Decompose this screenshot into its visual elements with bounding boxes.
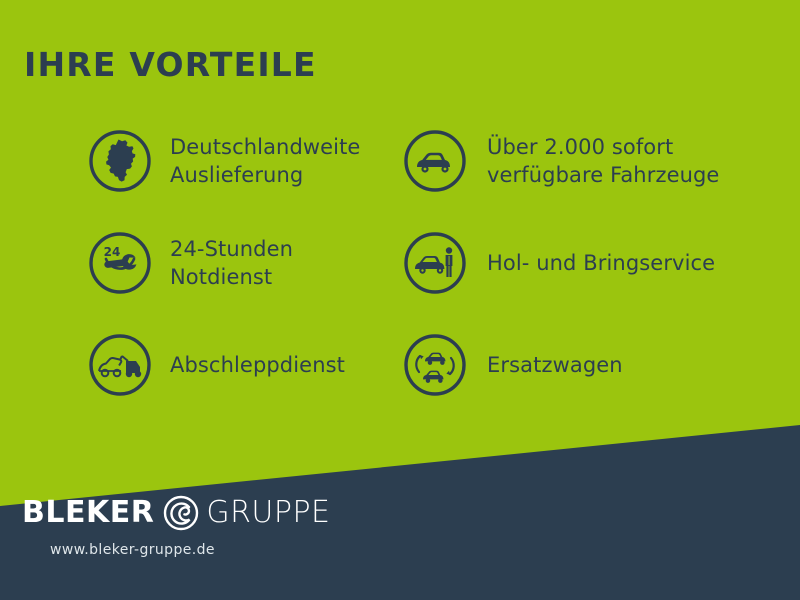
benefit-label: Abschleppdienst <box>170 351 345 379</box>
benefit-label-line-1: Über 2.000 sofort <box>487 133 719 161</box>
benefit-item-abschleppdienst: Abschleppdienst <box>88 314 398 416</box>
logo-word-gruppe: GRUPPE <box>206 498 330 528</box>
24-hour-wrench-icon: 24 <box>88 231 152 295</box>
benefit-item-deutschlandweite-auslieferung: Deutschlandweite Auslieferung <box>88 110 398 212</box>
company-logo[interactable]: BLEKER GRUPPE <box>22 490 331 536</box>
benefit-label-line-1: 24-Stunden <box>170 235 293 263</box>
spiral-circle-icon <box>158 490 204 536</box>
benefit-label: Ersatzwagen <box>487 351 623 379</box>
benefit-item-hol-und-bringservice: Hol- und Bringservice <box>403 212 743 314</box>
benefit-label-line-2: Notdienst <box>170 263 293 291</box>
two-cars-swap-icon <box>403 333 467 397</box>
benefit-label-line-2: verfügbare Fahrzeuge <box>487 161 719 189</box>
benefits-right-column: Über 2.000 sofort verfügbare Fahrzeuge <box>403 110 743 416</box>
benefit-label: Hol- und Bringservice <box>487 249 715 277</box>
benefit-label: 24-Stunden Notdienst <box>170 235 293 292</box>
benefits-left-column: Deutschlandweite Auslieferung 24 <box>88 110 398 416</box>
benefit-label-line-1: Abschleppdienst <box>170 351 345 379</box>
benefit-label-line-1: Hol- und Bringservice <box>487 249 715 277</box>
benefit-label-line-1: Ersatzwagen <box>487 351 623 379</box>
benefit-item-verfuegbare-fahrzeuge: Über 2.000 sofort verfügbare Fahrzeuge <box>403 110 743 212</box>
benefit-label-line-1: Deutschlandweite <box>170 133 360 161</box>
car-icon <box>403 129 467 193</box>
benefit-label: Deutschlandweite Auslieferung <box>170 133 360 190</box>
footer: BLEKER GRUPPE www.bleker-gruppe.de <box>0 480 800 600</box>
benefit-label-line-2: Auslieferung <box>170 161 360 189</box>
car-with-person-icon <box>403 231 467 295</box>
logo-url[interactable]: www.bleker-gruppe.de <box>50 542 215 558</box>
page-title: IHRE VORTEILE <box>24 48 317 81</box>
icon-hours-text: 24 <box>104 245 121 259</box>
tow-truck-icon <box>88 333 152 397</box>
slide-root: IHRE VORTEILE Deutschlandweite Ausliefer… <box>0 0 800 600</box>
logo-word-bleker: BLEKER <box>22 498 154 528</box>
germany-map-icon <box>88 129 152 193</box>
slide-content: IHRE VORTEILE Deutschlandweite Ausliefer… <box>0 0 800 520</box>
benefit-label: Über 2.000 sofort verfügbare Fahrzeuge <box>487 133 719 190</box>
benefit-item-ersatzwagen: Ersatzwagen <box>403 314 743 416</box>
benefit-item-24-stunden-notdienst: 24 24-Stunden Notdienst <box>88 212 398 314</box>
